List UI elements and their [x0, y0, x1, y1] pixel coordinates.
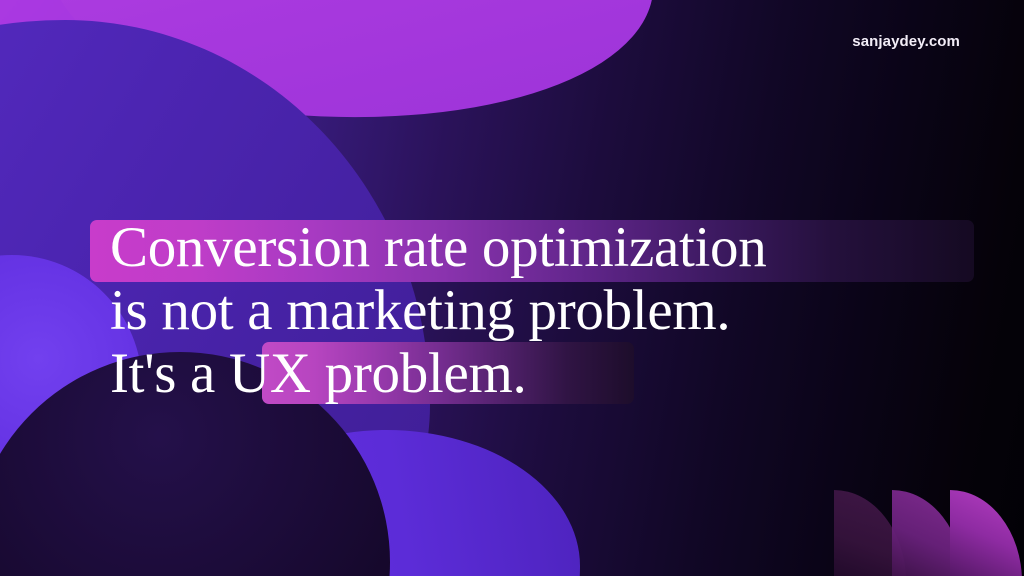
watermark-site-url: sanjaydey.com: [852, 33, 960, 50]
quote-line-1-text: Conversion rate optimization: [90, 216, 766, 279]
quote-line-2: is not a marketing problem.: [90, 279, 766, 342]
petal-cluster-bottom-right: [844, 466, 1024, 576]
quote-text-block: Conversion rate optimization is not a ma…: [90, 216, 766, 405]
quote-line-3-text: It's a UX problem.: [90, 342, 526, 405]
quote-line-1: Conversion rate optimization: [90, 216, 766, 279]
petal-shape-3: [950, 490, 1022, 576]
quote-line-2-text: is not a marketing problem.: [90, 279, 730, 342]
quote-card: sanjaydey.com Conversion rate optimizati…: [0, 0, 1024, 576]
quote-line-3: It's a UX problem.: [90, 342, 766, 405]
